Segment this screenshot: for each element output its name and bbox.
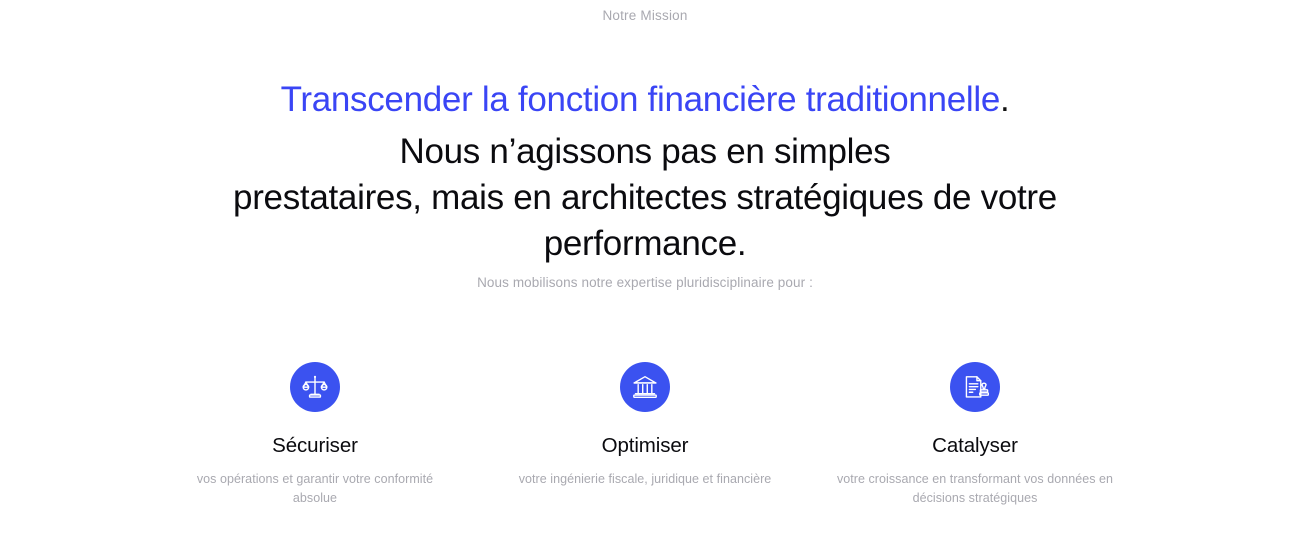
document-stamp-icon — [961, 373, 989, 401]
pillar-icon-badge — [950, 362, 1000, 412]
bank-building-icon — [631, 373, 659, 401]
pillar-title: Optimiser — [602, 433, 689, 459]
pillar-description: votre croissance en transformant vos don… — [830, 470, 1120, 508]
pillar-title: Sécuriser — [272, 433, 358, 459]
pillar-icon-badge — [290, 362, 340, 412]
headline-main-line-1: Nous n’agissons pas en simples — [0, 129, 1290, 175]
pillar-item-catalyser: Catalyser votre croissance en transforma… — [810, 362, 1140, 508]
mission-section: Notre Mission Transcender la fonction fi… — [0, 0, 1290, 559]
pillar-description: votre ingénierie fiscale, juridique et f… — [519, 470, 772, 489]
pillar-icon-badge — [620, 362, 670, 412]
section-leadin: Nous mobilisons notre expertise pluridis… — [0, 273, 1290, 293]
pillar-item-securiser: Sécuriser vos opérations et garantir vot… — [150, 362, 480, 508]
headline-accent: Transcender la fonction financière tradi… — [0, 78, 1290, 122]
pillar-item-optimiser: Optimiser votre ingénierie fiscale, juri… — [480, 362, 810, 489]
pillar-list: Sécuriser vos opérations et garantir vot… — [150, 362, 1140, 508]
section-eyebrow: Notre Mission — [0, 6, 1290, 26]
pillar-description: vos opérations et garantir votre conform… — [184, 470, 446, 508]
headline-main-line-3: performance. — [0, 221, 1290, 267]
headline-main-line-2: prestataires, mais en architectes straté… — [0, 175, 1290, 221]
headline-accent-text: Transcender la fonction financière tradi… — [281, 80, 1000, 119]
scales-of-justice-icon — [301, 373, 329, 401]
pillar-title: Catalyser — [932, 433, 1018, 459]
headline-main: Nous n’agissons pas en simples prestatai… — [0, 129, 1290, 267]
headline-accent-period: . — [1000, 80, 1009, 119]
